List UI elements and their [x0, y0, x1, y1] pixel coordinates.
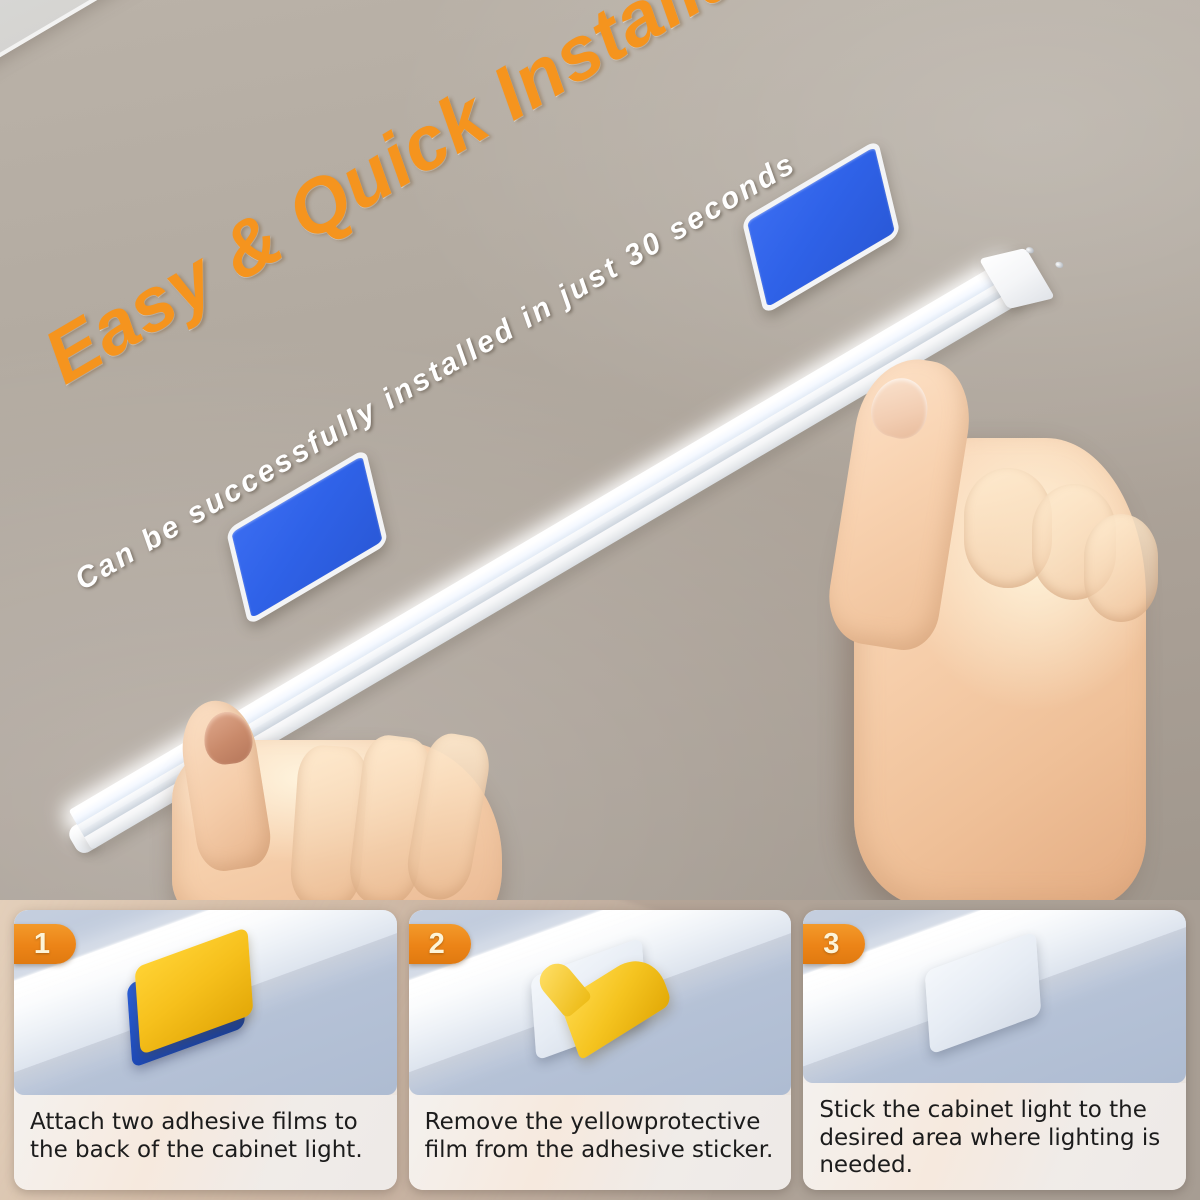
- step-number-1: 1: [34, 930, 56, 959]
- step-panel-1[interactable]: 1 Attach two adhesive films to the back …: [14, 910, 397, 1190]
- step-number-3: 3: [823, 930, 845, 959]
- step-caption-1: Attach two adhesive films to the back of…: [30, 1109, 383, 1164]
- steps-panel-row: 1 Attach two adhesive films to the back …: [0, 900, 1200, 1200]
- step-badge-2: 2: [409, 924, 471, 964]
- step-caption-3: Stick the cabinet light to the desired a…: [819, 1097, 1172, 1180]
- hero-scene: Easy & Quick Installation Can be success…: [0, 0, 1200, 910]
- right-hand-finger: [1084, 514, 1158, 622]
- step-caption-box-1: Attach two adhesive films to the back of…: [14, 1095, 397, 1190]
- step-image-1: 1: [14, 910, 397, 1095]
- step-caption-box-2: Remove the yellowprotective film from th…: [409, 1095, 792, 1190]
- step-image-3: 3: [803, 910, 1186, 1083]
- step-caption-2: Remove the yellowprotective film from th…: [425, 1109, 778, 1164]
- step-badge-1: 1: [14, 924, 76, 964]
- left-hand: [112, 690, 532, 910]
- step-badge-3: 3: [803, 924, 865, 964]
- right-hand: [836, 318, 1166, 910]
- step-number-2: 2: [429, 930, 451, 959]
- step-image-2: 2: [409, 910, 792, 1095]
- step-panel-3[interactable]: 3 Stick the cabinet light to the desired…: [803, 910, 1186, 1190]
- step-panel-2[interactable]: 2 Remove the yellowprotective film from …: [409, 910, 792, 1190]
- steps-strip: 1 Attach two adhesive films to the back …: [0, 900, 1200, 1200]
- infographic-canvas: Easy & Quick Installation Can be success…: [0, 0, 1200, 1200]
- step-caption-box-3: Stick the cabinet light to the desired a…: [803, 1083, 1186, 1190]
